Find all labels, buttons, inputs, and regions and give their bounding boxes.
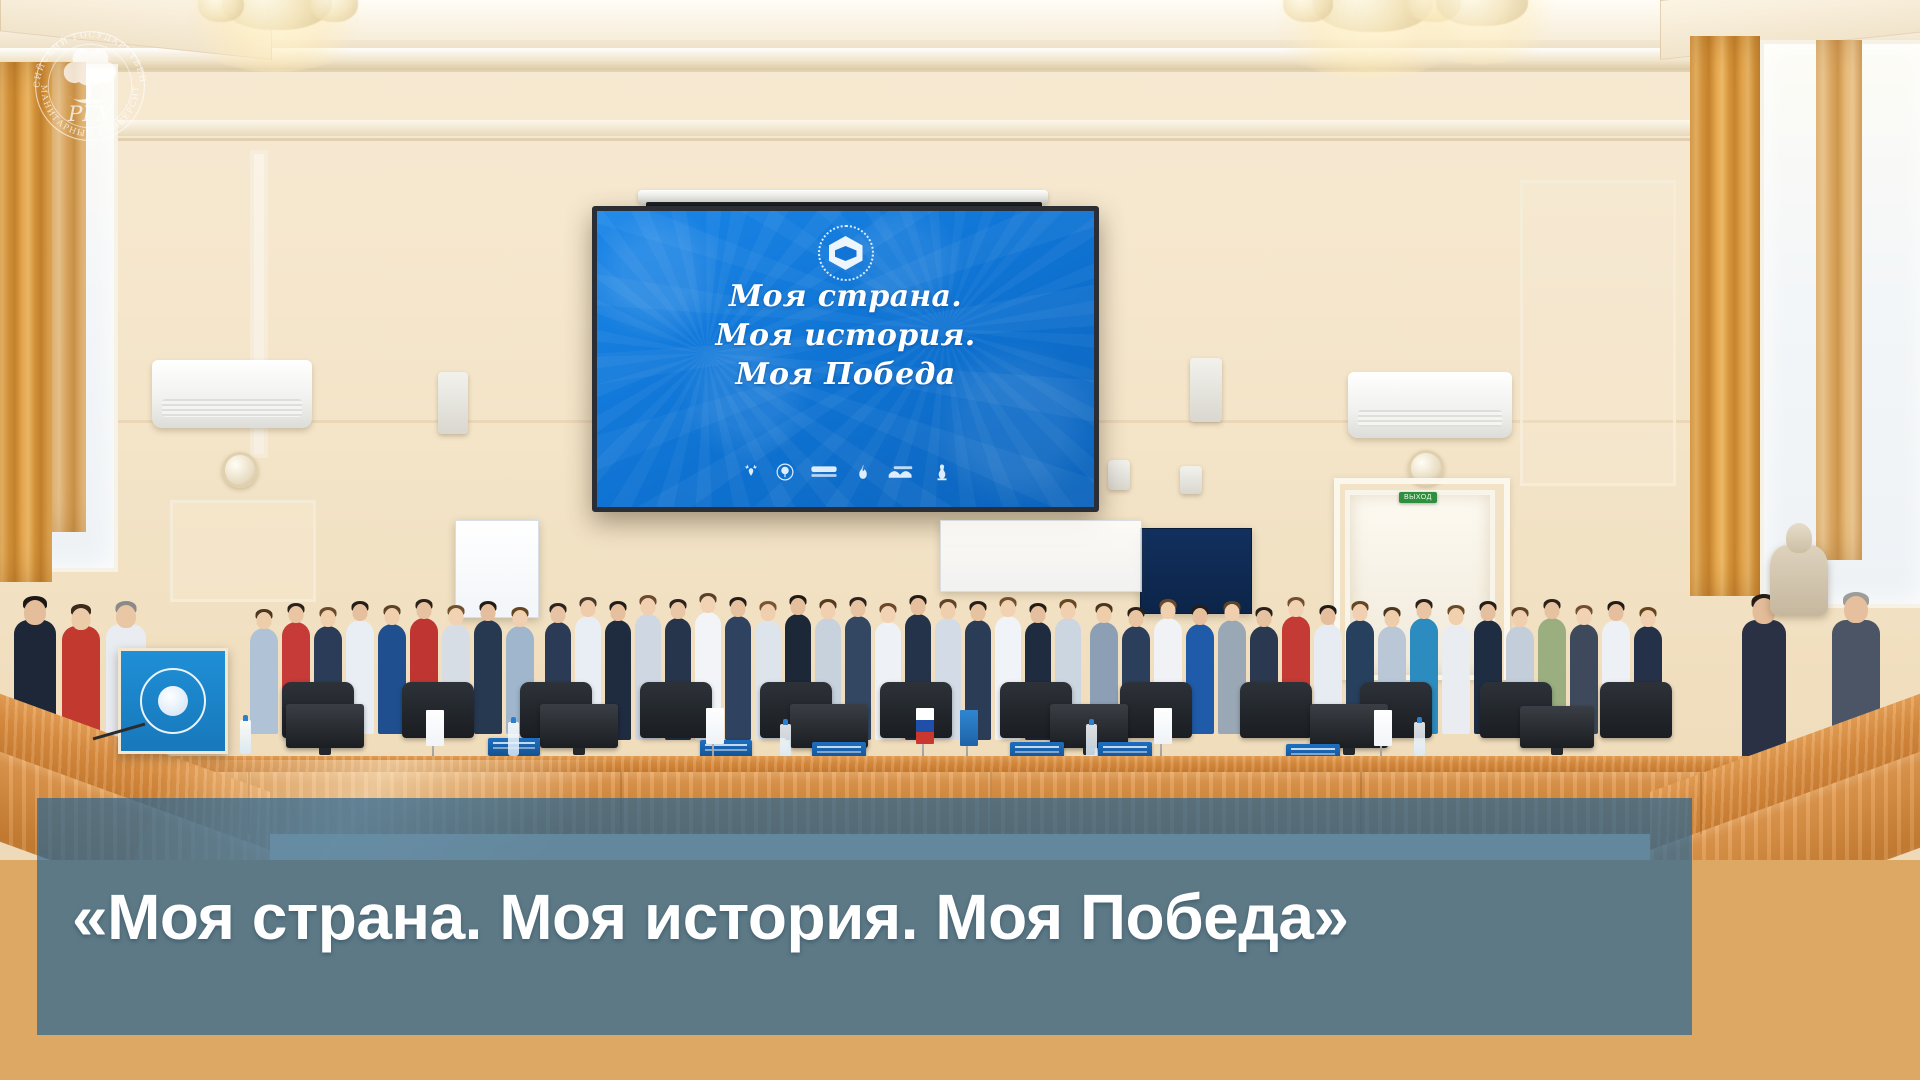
partner-logo-flame xyxy=(854,463,872,481)
desk-monitor xyxy=(1520,706,1594,748)
table-flag-white xyxy=(426,710,444,746)
speaker-center-right xyxy=(1108,460,1130,490)
table-flag-white xyxy=(706,708,724,744)
air-conditioner-right xyxy=(1348,372,1512,438)
partner-logo-bar xyxy=(810,464,838,480)
presentation-screen: Моя страна. Моя история. Моя Победа xyxy=(592,206,1099,512)
air-conditioner-left xyxy=(152,360,312,428)
table-flag-russia xyxy=(916,708,934,744)
table-flag-blue xyxy=(960,710,978,746)
speaker-right xyxy=(1190,358,1222,422)
wall-cornice xyxy=(0,120,1920,136)
screen-title-line-1: Моя страна. xyxy=(597,277,1094,316)
chair xyxy=(1240,682,1312,738)
wall-panel-right xyxy=(1520,180,1676,486)
desk-monitor xyxy=(540,704,618,748)
water-bottle xyxy=(780,724,791,758)
chandelier-left xyxy=(170,0,380,62)
wall-line xyxy=(0,138,1920,141)
screen-title-line-3: Моя Победа xyxy=(597,355,1094,394)
table-flag-white xyxy=(1154,708,1172,744)
water-bottle xyxy=(508,722,519,756)
podium-rggu-seal xyxy=(140,668,206,734)
table-flag-white xyxy=(1374,710,1392,746)
speaker-left xyxy=(438,372,468,434)
caption-text: «Моя страна. Моя история. Моя Победа» xyxy=(37,880,1349,954)
bust-sculpture-right xyxy=(1770,545,1828,615)
chair xyxy=(1600,682,1672,738)
partner-logos-row xyxy=(597,463,1094,481)
speaker-podium xyxy=(118,648,228,754)
desk-monitor xyxy=(286,704,364,748)
photo-card: ВЫХОД Моя страна. Моя история. Моя Побед… xyxy=(0,0,1920,1080)
wall-clock-left xyxy=(222,452,258,488)
curtain-left-inner xyxy=(52,62,86,532)
screen-title: Моя страна. Моя история. Моя Победа xyxy=(597,277,1094,394)
water-bottle xyxy=(240,720,251,754)
water-bottle xyxy=(1414,722,1425,756)
speaker-center-left xyxy=(1180,466,1202,494)
curtain-right-inner xyxy=(1816,40,1862,560)
curtain-left-outer xyxy=(0,62,52,582)
screen-title-line-2: Моя история. xyxy=(597,316,1094,355)
water-bottle xyxy=(1086,724,1097,758)
event-emblem-icon xyxy=(818,225,874,281)
chair xyxy=(640,682,712,738)
exit-sign: ВЫХОД xyxy=(1399,492,1437,503)
partner-logo-deer xyxy=(742,463,760,481)
photo-caption-banner: «Моя страна. Моя история. Моя Победа» xyxy=(37,798,1692,1035)
chandelier-far-right xyxy=(1390,0,1570,54)
partner-logo-tree-circle xyxy=(776,463,794,481)
table-seam xyxy=(1700,772,1702,834)
partner-logo-statue xyxy=(934,463,950,481)
oak-tree-icon xyxy=(158,686,188,716)
partner-logo-wave xyxy=(888,464,918,480)
